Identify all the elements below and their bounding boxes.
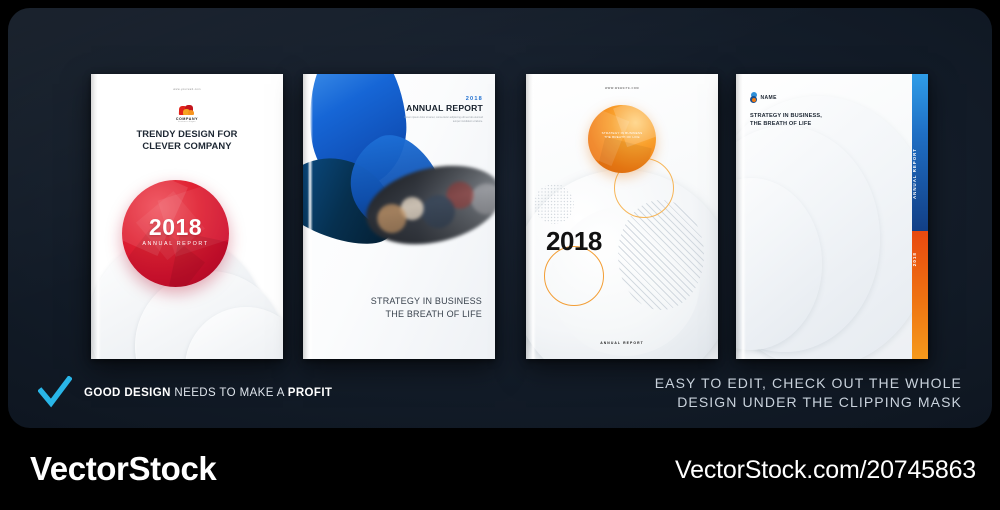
poster4-sidebar: ANNUAL REPORT 2018 bbox=[912, 74, 928, 359]
poster4-headline-line1: STRATEGY IN BUSINESS, bbox=[750, 112, 822, 120]
poster2-tagline-line1: STRATEGY IN BUSINESS bbox=[371, 295, 482, 308]
poster1-top-url: www.yourweb.com bbox=[91, 88, 283, 91]
watermark-footer: VectorStock VectorStock.com/20745863 bbox=[0, 432, 1000, 510]
caption-left-normal: NEEDS TO MAKE A bbox=[171, 387, 288, 399]
stripe-pattern-circle bbox=[618, 200, 704, 310]
poster2-body-text: Lorem ipsum dolor sit amet, consectetur … bbox=[399, 116, 483, 123]
caption-right-line2: DESIGN UNDER THE CLIPPING MASK bbox=[655, 393, 962, 412]
poster1-headline: TRENDY DESIGN FOR CLEVER COMPANY bbox=[103, 128, 271, 152]
poster3-year: 2018 bbox=[546, 226, 602, 257]
vectorstock-brand: VectorStock bbox=[30, 450, 216, 488]
caption-left: GOOD DESIGN NEEDS TO MAKE A PROFIT bbox=[38, 376, 332, 410]
sidebar-label-year: 2018 bbox=[912, 252, 928, 266]
screenshot-root: www.yourweb.com COMPANY business slogan … bbox=[0, 0, 1000, 510]
poster1-year: 2018 bbox=[122, 214, 229, 241]
poster4-logo-text: NAME bbox=[761, 95, 777, 101]
poster2-tagline: STRATEGY IN BUSINESS THE BREATH OF LIFE bbox=[371, 295, 482, 321]
poster2-year: 2018 bbox=[399, 96, 483, 102]
poster1-headline-line2: CLEVER COMPANY bbox=[103, 140, 271, 152]
check-icon bbox=[38, 376, 72, 410]
caption-right: EASY TO EDIT, CHECK OUT THE WHOLE DESIGN… bbox=[655, 374, 962, 412]
poster2-tagline-line2: THE BREATH OF LIFE bbox=[371, 308, 482, 321]
caption-right-line1: EASY TO EDIT, CHECK OUT THE WHOLE bbox=[655, 374, 962, 393]
poster3-orange-badge: STRATEGY IN BUSINESS THE BREATH OF LIFE bbox=[588, 105, 656, 173]
poster1-red-badge: 2018 ANNUAL REPORT bbox=[122, 180, 229, 287]
poster4-logo: NAME bbox=[750, 92, 777, 103]
poster3-badge-text: STRATEGY IN BUSINESS THE BREATH OF LIFE bbox=[594, 131, 650, 140]
vectorstock-url: VectorStock.com/20745863 bbox=[675, 456, 976, 485]
poster4-headline-line2: THE BREATH OF LIFE bbox=[750, 120, 822, 128]
poster3-footer-label: ANNUAL REPORT bbox=[526, 341, 718, 345]
dot-pattern-circle bbox=[534, 184, 574, 224]
poster1-badge-sub: ANNUAL REPORT bbox=[122, 241, 229, 247]
poster4-headline: STRATEGY IN BUSINESS, THE BREATH OF LIFE bbox=[750, 112, 822, 128]
poster-card-1[interactable]: www.yourweb.com COMPANY business slogan … bbox=[91, 74, 283, 359]
name-logo-icon bbox=[750, 92, 758, 103]
showcase-panel: www.yourweb.com COMPANY business slogan … bbox=[8, 8, 992, 428]
sidebar-label-annual-report: ANNUAL REPORT bbox=[912, 148, 928, 199]
poster1-logo-sub: business slogan bbox=[170, 121, 204, 123]
caption-left-text: GOOD DESIGN NEEDS TO MAKE A PROFIT bbox=[84, 387, 332, 399]
poster-card-2[interactable]: 2018 ANNUAL REPORT Lorem ipsum dolor sit… bbox=[303, 74, 495, 359]
poster3-top-url: WWW.WEBSITE.COM bbox=[526, 87, 718, 90]
caption-left-strong-1: GOOD DESIGN bbox=[84, 387, 171, 399]
poster2-title: ANNUAL REPORT bbox=[399, 103, 483, 113]
poster2-header: 2018 ANNUAL REPORT Lorem ipsum dolor sit… bbox=[399, 96, 483, 123]
poster-card-3[interactable]: WWW.WEBSITE.COM STRATEGY IN BUSINESS THE… bbox=[526, 74, 718, 359]
caption-left-strong-2: PROFIT bbox=[288, 387, 333, 399]
sidebar-orange-band bbox=[912, 231, 928, 359]
company-logo-icon bbox=[172, 105, 202, 116]
poster-card-4[interactable]: NAME STRATEGY IN BUSINESS, THE BREATH OF… bbox=[736, 74, 928, 359]
poster1-logo: COMPANY business slogan bbox=[170, 105, 204, 123]
poster1-headline-line1: TRENDY DESIGN FOR bbox=[103, 128, 271, 140]
poster3-badge-line2: THE BREATH OF LIFE bbox=[594, 135, 650, 139]
